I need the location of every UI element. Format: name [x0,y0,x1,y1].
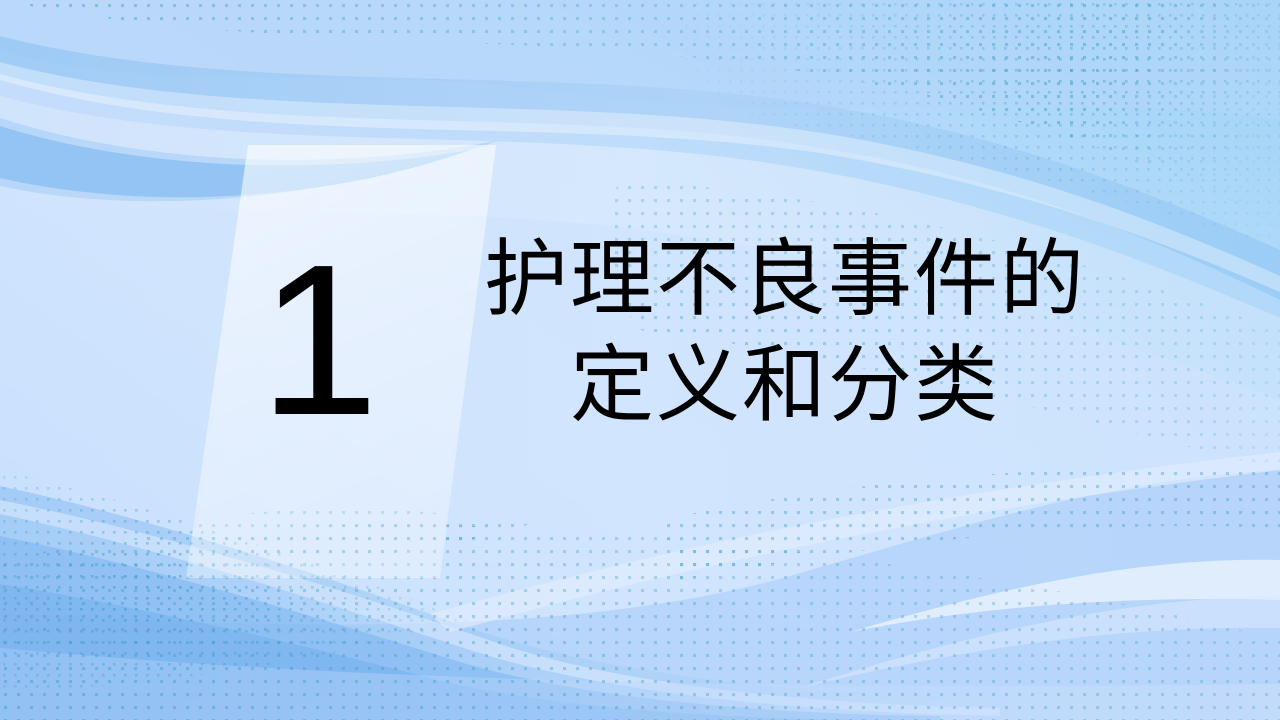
slide-title: 护理不良事件的 定义和分类 [470,226,1100,438]
title-line-2: 定义和分类 [470,332,1100,438]
section-number: 1 [248,232,388,447]
slide-canvas: 1 护理不良事件的 定义和分类 [0,0,1280,720]
title-line-1: 护理不良事件的 [470,226,1100,332]
